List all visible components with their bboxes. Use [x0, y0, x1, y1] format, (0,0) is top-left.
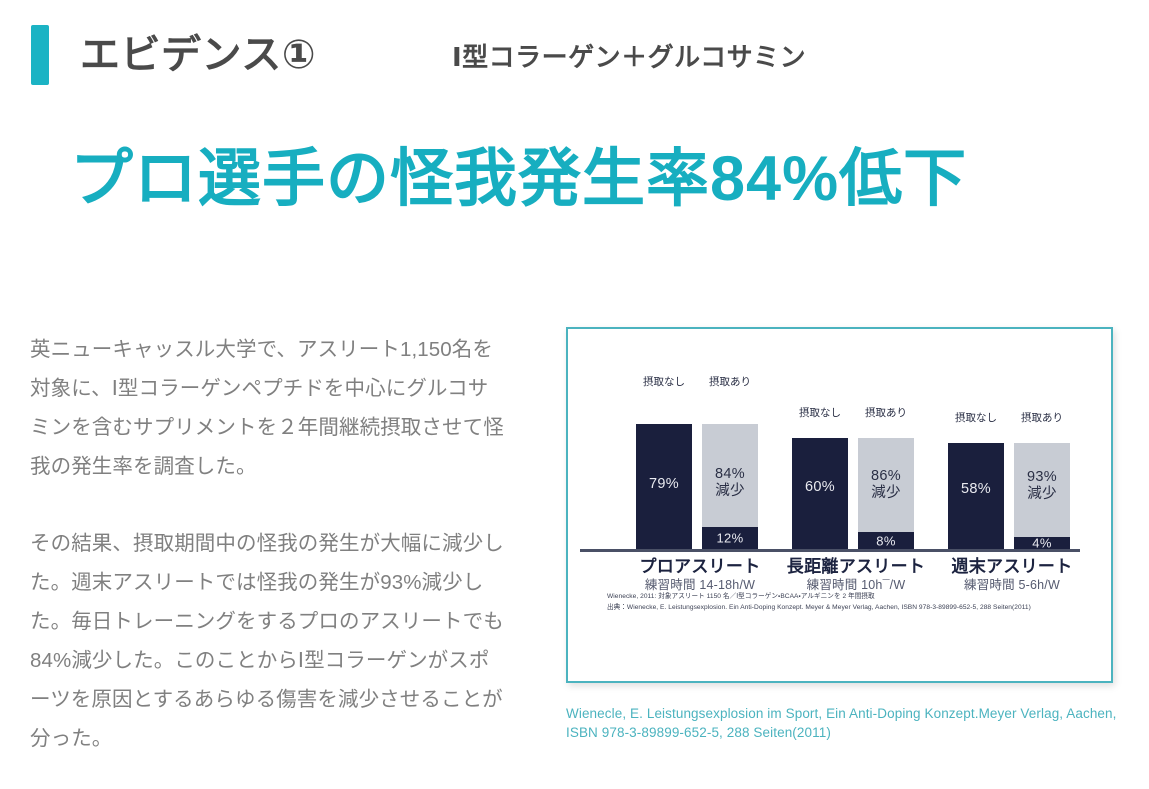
chart-source-line-1: Wienecke, 2011: 対象アスリート 1150 名／Ⅰ型コラーゲン・B… [607, 592, 1087, 603]
bar-reduction-word: 減少 [702, 483, 758, 500]
bar-pro-with-intake: 摂取あり 84% 減少 12% [702, 391, 758, 549]
bar-long-with-intake: 摂取あり 86% 減少 8% [858, 391, 914, 549]
chart-baseline-axis [580, 549, 1080, 552]
bar-long-no-intake: 摂取なし 60% [792, 391, 848, 549]
bar-foot-value: 12% [702, 531, 758, 546]
bar-rect: 93% 減少 [1014, 443, 1070, 549]
bar-value: 79% [636, 476, 692, 493]
bar-rect: 58% [948, 443, 1004, 549]
bar-weekend-no-intake: 摂取なし 58% [948, 391, 1004, 549]
bar-caption: 摂取あり [865, 405, 907, 420]
citation: Wienecle, E. Leistungsexplosion im Sport… [566, 704, 1126, 742]
headline: プロ選手の怪我発生率84%低下 [70, 140, 1080, 218]
bar-foot-value: 8% [858, 533, 914, 548]
body-copy: 英ニューキャッスル大学で、アスリート1,150名を対象に、Ⅰ型コラーゲンペプチド… [30, 330, 506, 758]
slide-header: エビデンス① Ⅰ型コラーゲン＋グルコサミン [0, 0, 1149, 110]
page-subtitle: Ⅰ型コラーゲン＋グルコサミン [452, 38, 806, 76]
bar-rect: 79% [636, 424, 692, 549]
citation-line-1: Wienecle, E. Leistungsexplosion im Sport… [566, 704, 1126, 723]
bar-foot-segment: 12% [702, 527, 758, 549]
bar-caption: 摂取あり [1021, 410, 1063, 425]
accent-bar [31, 25, 49, 85]
bar-value: 60% [792, 479, 848, 496]
bar-reduction-pct: 86% [858, 468, 914, 485]
bar-reduction-pct: 84% [702, 466, 758, 483]
slide-canvas: エビデンス① Ⅰ型コラーゲン＋グルコサミン プロ選手の怪我発生率84%低下 英ニ… [0, 0, 1149, 789]
body-paragraph-1: 英ニューキャッスル大学で、アスリート1,150名を対象に、Ⅰ型コラーゲンペプチド… [30, 330, 506, 486]
chart-source-line-2: 出典：Wienecke, E. Leistungsexplosion. Ein … [607, 603, 1087, 614]
bar-reduction-pct: 93% [1014, 469, 1070, 486]
bar-rect: 60% [792, 438, 848, 549]
chart-plot-area: 摂取なし 79% 摂取あり 84% 減少 [608, 391, 1078, 549]
bar-foot-segment: 8% [858, 532, 914, 549]
bar-caption: 摂取あり [709, 374, 751, 389]
bar-caption: 摂取なし [643, 374, 685, 389]
chart-source-note: Wienecke, 2011: 対象アスリート 1150 名／Ⅰ型コラーゲン・B… [607, 592, 1087, 613]
bar-pro-no-intake: 摂取なし 79% [636, 391, 692, 549]
x-label-main: 週末アスリート [917, 556, 1107, 577]
bar-reduction-word: 減少 [858, 485, 914, 502]
chart-panel: 摂取なし 79% 摂取あり 84% 減少 [566, 327, 1113, 683]
bar-value: 58% [948, 481, 1004, 498]
bar-weekend-with-intake: 摂取あり 93% 減少 4% [1014, 391, 1070, 549]
x-label-sub: 練習時間 5-6h/W [917, 577, 1107, 593]
bar-reduction-word: 減少 [1014, 486, 1070, 503]
bar-foot-segment: 4% [1014, 537, 1070, 549]
page-title: エビデンス① [80, 25, 316, 85]
chart-figure: 摂取なし 79% 摂取あり 84% 減少 [568, 329, 1115, 685]
bar-caption: 摂取なし [799, 405, 841, 420]
body-paragraph-2: その結果、摂取期間中の怪我の発生が大幅に減少した。週末アスリートでは怪我の発生が… [30, 524, 506, 758]
citation-line-2: ISBN 978-3-89899-652-5, 288 Seiten(2011) [566, 723, 1126, 742]
x-label-weekend: 週末アスリート 練習時間 5-6h/W [917, 556, 1107, 593]
bar-caption: 摂取なし [955, 410, 997, 425]
